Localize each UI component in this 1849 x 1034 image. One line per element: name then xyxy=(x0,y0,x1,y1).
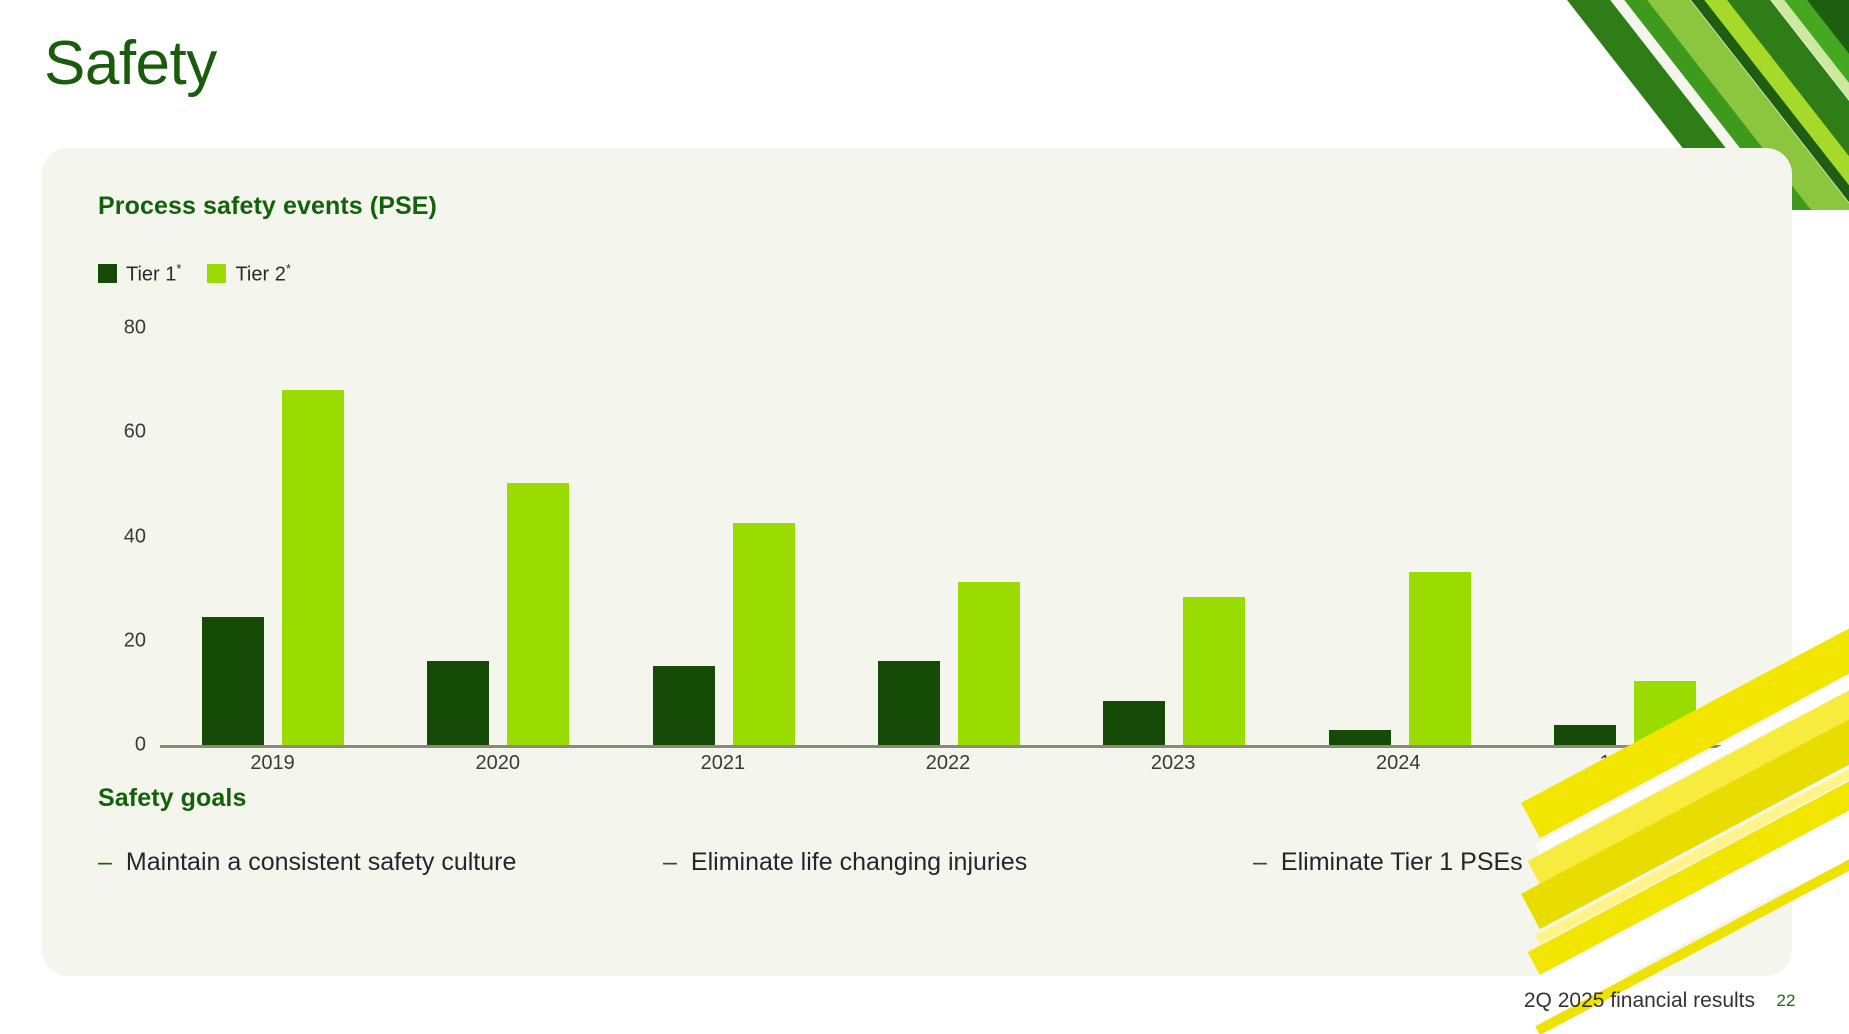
bar-1H25-tier-1[interactable] xyxy=(1554,725,1616,745)
goal-item-2: –Eliminate life changing injuries xyxy=(663,848,1253,877)
bar-group-1H25 xyxy=(1513,350,1738,745)
x-axis-tick-1H25: 1H25 xyxy=(1511,752,1736,775)
page-number-badge: 22 xyxy=(1769,984,1803,1018)
bar-2021-tier-1[interactable] xyxy=(653,666,715,745)
x-axis-baseline xyxy=(160,745,1738,748)
bar-group-2024 xyxy=(1287,350,1512,745)
bar-2023-tier-2[interactable] xyxy=(1183,597,1245,745)
goal-text: Eliminate life changing injuries xyxy=(691,848,1027,877)
y-axis-tick-0: 0 xyxy=(98,734,146,757)
footer-text: 2Q 2025 financial results xyxy=(1524,989,1755,1013)
page-title: Safety xyxy=(44,30,217,98)
goals-list: –Maintain a consistent safety culture–El… xyxy=(98,848,1736,877)
bar-2019-tier-1[interactable] xyxy=(202,617,264,745)
bar-2019-tier-2[interactable] xyxy=(282,390,344,746)
x-axis-tick-2023: 2023 xyxy=(1061,752,1286,775)
y-axis-tick-60: 60 xyxy=(98,421,146,444)
legend-label-tier-2: Tier 2* xyxy=(235,261,290,287)
x-axis-tick-2024: 2024 xyxy=(1286,752,1511,775)
bar-group-2021 xyxy=(611,350,836,745)
bar-2021-tier-2[interactable] xyxy=(733,523,795,745)
legend-swatch-tier-2-icon xyxy=(207,264,226,283)
bar-group-2023 xyxy=(1062,350,1287,745)
content-card: Process safety events (PSE) Tier 1* Tier… xyxy=(42,148,1792,976)
bar-group-2020 xyxy=(385,350,610,745)
bar-1H25-tier-2[interactable] xyxy=(1634,681,1696,745)
bar-2024-tier-1[interactable] xyxy=(1329,730,1391,745)
goal-dash-icon: – xyxy=(663,848,677,877)
x-axis-tick-2020: 2020 xyxy=(385,752,610,775)
bar-2022-tier-1[interactable] xyxy=(878,661,940,745)
goal-text: Eliminate Tier 1 PSEs xyxy=(1281,848,1523,877)
goal-text: Maintain a consistent safety culture xyxy=(126,848,516,877)
goal-dash-icon: – xyxy=(1253,848,1267,877)
y-axis-tick-40: 40 xyxy=(98,525,146,548)
x-axis-tick-2021: 2021 xyxy=(610,752,835,775)
goal-item-1: –Maintain a consistent safety culture xyxy=(98,848,663,877)
legend-swatch-tier-1-icon xyxy=(98,264,117,283)
slide-footer: 2Q 2025 financial results 22 xyxy=(1524,984,1803,1018)
bar-2024-tier-2[interactable] xyxy=(1409,572,1471,745)
bar-series-container xyxy=(160,350,1738,745)
bar-group-2019 xyxy=(160,350,385,745)
slide-canvas: Safety Process safety events (PSE) Tier … xyxy=(0,0,1849,1034)
bar-chart: 020406080 xyxy=(98,328,1738,748)
bar-2020-tier-1[interactable] xyxy=(427,661,489,745)
legend-item-tier-2[interactable]: Tier 2* xyxy=(207,261,290,287)
plot-region xyxy=(160,328,1738,748)
bar-2023-tier-1[interactable] xyxy=(1103,701,1165,745)
bar-2022-tier-2[interactable] xyxy=(958,582,1020,745)
x-axis-tick-2019: 2019 xyxy=(160,752,385,775)
goal-dash-icon: – xyxy=(98,848,112,877)
y-axis-tick-80: 80 xyxy=(98,317,146,340)
chart-title: Process safety events (PSE) xyxy=(98,192,437,221)
bar-2020-tier-2[interactable] xyxy=(507,483,569,745)
x-axis: 2019202020212022202320241H25 xyxy=(160,752,1736,775)
goal-item-3: –Eliminate Tier 1 PSEs xyxy=(1253,848,1523,877)
goals-title: Safety goals xyxy=(98,784,246,813)
bar-group-2022 xyxy=(836,350,1061,745)
y-axis-tick-20: 20 xyxy=(98,629,146,652)
chart-legend: Tier 1* Tier 2* xyxy=(98,261,291,287)
legend-item-tier-1[interactable]: Tier 1* xyxy=(98,261,181,287)
x-axis-tick-2022: 2022 xyxy=(835,752,1060,775)
y-axis: 020406080 xyxy=(98,328,146,748)
legend-label-tier-1: Tier 1* xyxy=(126,261,181,287)
